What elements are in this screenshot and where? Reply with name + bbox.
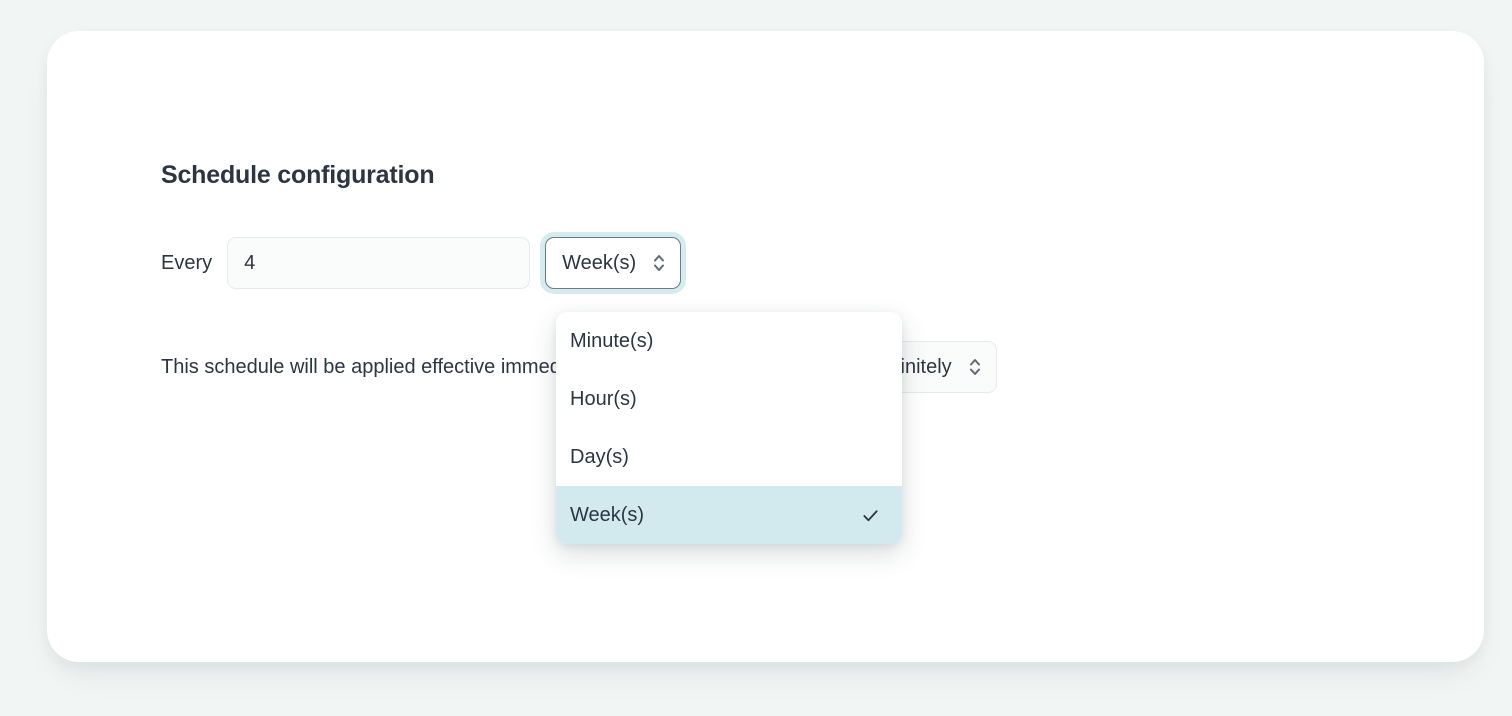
dropdown-option[interactable]: Hour(s) [556,370,902,428]
unit-select-trigger[interactable]: Week(s) [545,237,681,289]
unit-select-value: Week(s) [562,252,636,275]
page-title: Schedule configuration [161,161,434,190]
frequency-row: Every Week(s) [161,237,681,289]
unit-dropdown-menu[interactable]: Minute(s)Hour(s)Day(s)Week(s) [556,312,902,544]
dropdown-option[interactable]: Day(s) [556,428,902,486]
dropdown-option-label: Minute(s) [570,330,653,353]
every-label: Every [161,252,212,275]
check-icon [861,506,880,525]
interval-input[interactable] [227,237,530,289]
dropdown-option[interactable]: Minute(s) [556,312,902,370]
dropdown-option-label: Hour(s) [570,388,637,411]
dropdown-option-label: Week(s) [570,504,644,527]
dropdown-option[interactable]: Week(s) [556,486,902,544]
unit-select-wrapper: Week(s) [545,237,681,289]
dropdown-option-label: Day(s) [570,446,629,469]
chevron-up-down-icon [968,355,982,379]
chevron-up-down-icon [652,251,666,275]
